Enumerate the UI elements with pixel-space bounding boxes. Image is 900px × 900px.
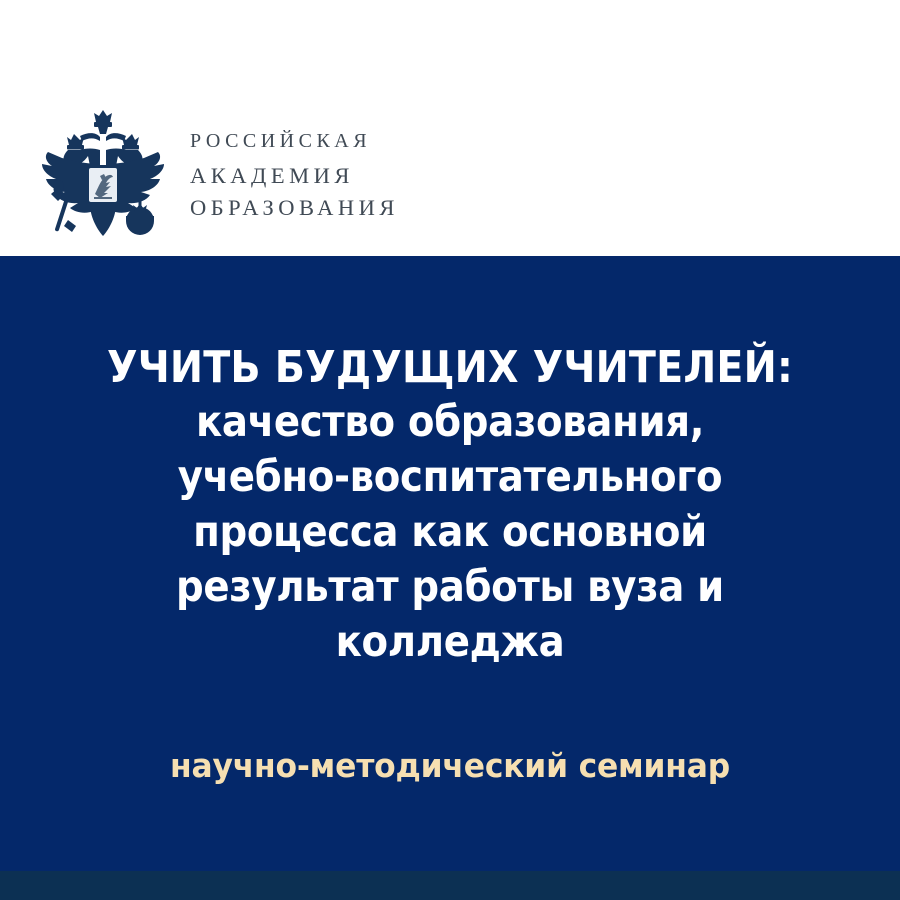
logo-line-rossiyskaya: Российская: [190, 119, 399, 160]
seminar-title: УЧИТЬ БУДУЩИХ УЧИТЕЛЕЙ: качество образов…: [0, 340, 900, 670]
title-line-6: колледжа: [81, 615, 819, 670]
logo-line-akademiya: Академия: [190, 160, 399, 193]
logo-line-obrazovaniya: Образования: [190, 192, 399, 225]
title-line-3: учебно-воспитательного: [81, 450, 819, 505]
rao-logo-lockup: Российская Академия Образования: [38, 104, 399, 240]
rao-wordmark: Российская Академия Образования: [190, 119, 399, 226]
title-line-2: качество образования,: [81, 395, 819, 450]
poster-canvas: Российская Академия Образования УЧИТЬ БУ…: [0, 0, 900, 900]
footer-band: ЫЙ СЕМИНАР: [0, 871, 900, 900]
main-navy-panel: УЧИТЬ БУДУЩИХ УЧИТЕЛЕЙ: качество образов…: [0, 256, 900, 871]
double-headed-eagle-emblem: [38, 104, 168, 240]
title-line-1: УЧИТЬ БУДУЩИХ УЧИТЕЛЕЙ:: [81, 340, 819, 395]
seminar-subtitle: научно-методический семинар: [23, 746, 878, 786]
title-line-5: результат работы вуза и: [81, 560, 819, 615]
footer-clipped-text: ЫЙ СЕМИНАР: [556, 871, 886, 881]
title-line-4: процесса как основной: [81, 505, 819, 560]
header-band: Российская Академия Образования: [0, 0, 900, 256]
